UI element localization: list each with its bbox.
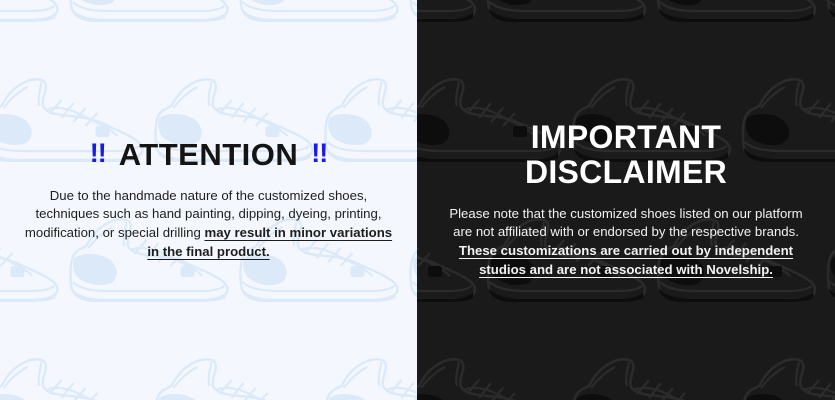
disclaimer-body: Please note that the customized shoes li… <box>441 205 811 280</box>
disclaimer-heading-line-1: IMPORTANT <box>441 121 811 153</box>
disclaimer-body-emphasis: These customizations are carried out by … <box>459 243 793 277</box>
disclaimer-heading: IMPORTANT DISCLAIMER <box>441 121 811 188</box>
attention-body: Due to the handmade nature of the custom… <box>24 187 393 262</box>
disclaimer-body-plain: Please note that the customized shoes li… <box>449 206 802 240</box>
attention-content: !! ATTENTION !! Due to the handmade natu… <box>0 139 417 262</box>
bang-left-icon: !! <box>90 140 106 167</box>
disclaimer-panel: IMPORTANT DISCLAIMER Please note that th… <box>417 0 835 400</box>
disclaimer-heading-line-2: DISCLAIMER <box>441 156 811 188</box>
attention-heading: !! ATTENTION !! <box>24 139 393 170</box>
attention-heading-text: ATTENTION <box>119 139 299 170</box>
attention-panel: !! ATTENTION !! Due to the handmade natu… <box>0 0 417 400</box>
dual-disclaimer-banner: !! ATTENTION !! Due to the handmade natu… <box>0 0 835 400</box>
bang-right-icon: !! <box>311 140 327 167</box>
disclaimer-content: IMPORTANT DISCLAIMER Please note that th… <box>417 121 835 280</box>
